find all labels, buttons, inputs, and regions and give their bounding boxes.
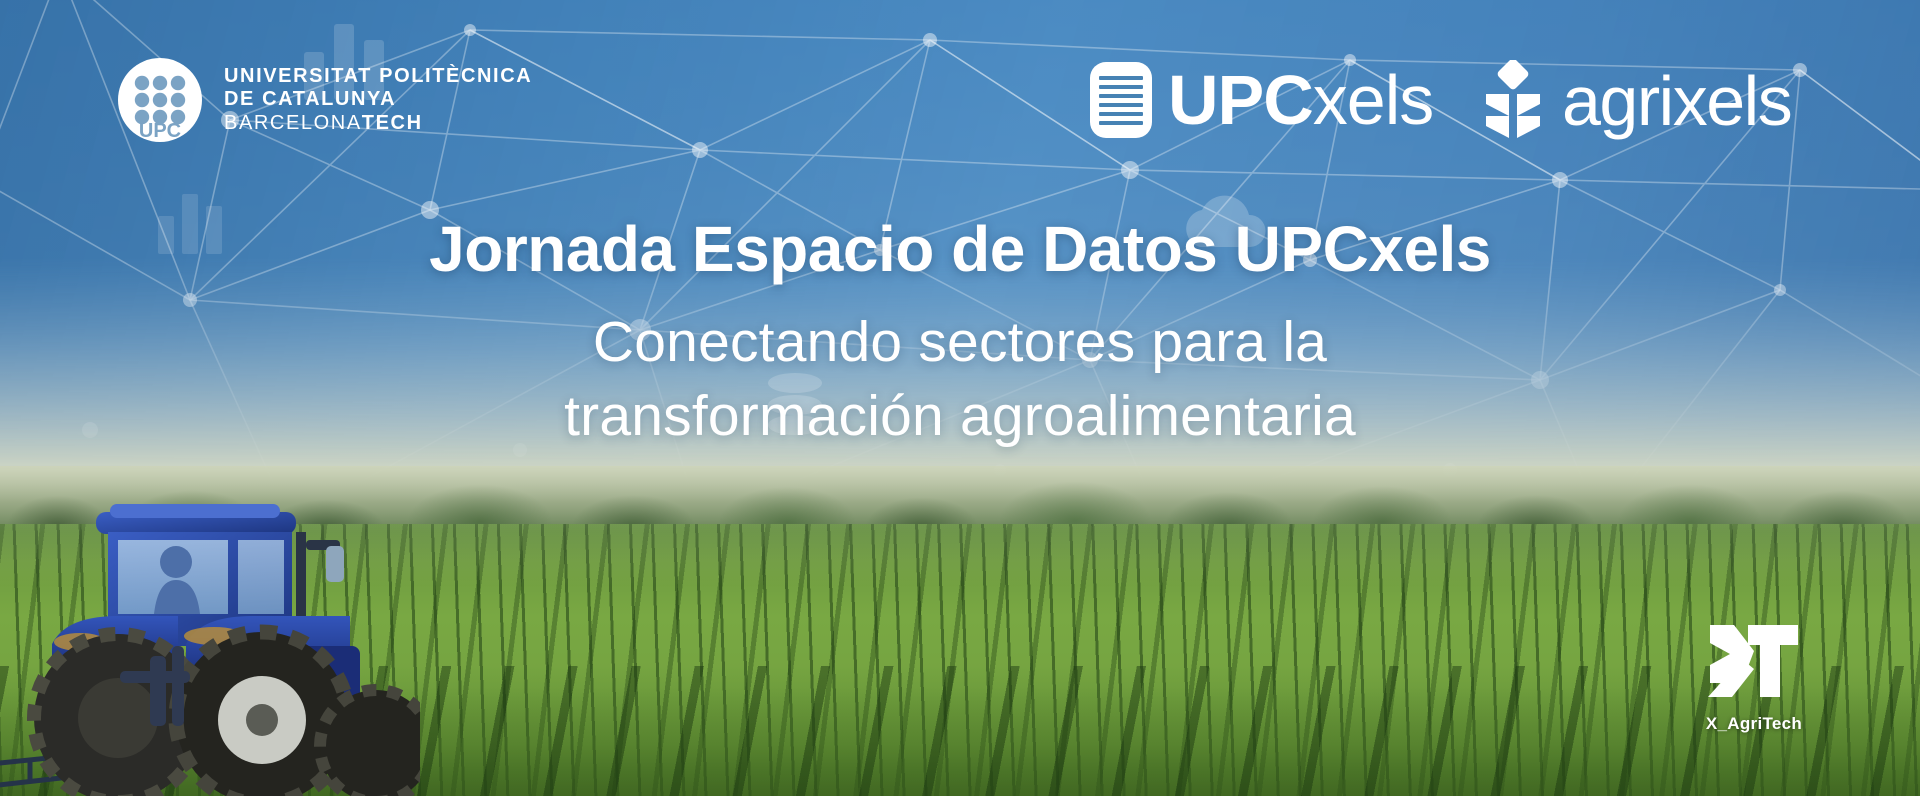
upc-tech-text: TECH — [362, 112, 423, 134]
title-block: Jornada Espacio de Datos UPCxels Conecta… — [0, 216, 1920, 453]
xagritech-label: X_AgriTech — [1684, 714, 1824, 734]
subtitle-line-1: Conectando sectores para la — [0, 305, 1920, 379]
upc-mark-label: UPC — [139, 120, 181, 142]
xagritech-logo: X_AgriTech — [1684, 621, 1824, 734]
agrixels-wordmark: agrixels — [1562, 66, 1791, 136]
xt-monogram-icon — [1708, 621, 1800, 701]
upcxels-upc-text: UPC — [1168, 61, 1313, 139]
upc-line-2: DE CATALUNYA — [224, 88, 532, 111]
subtitle-line-2: transformación agroalimentaria — [0, 379, 1920, 453]
upcxels-xels-text: xels — [1313, 61, 1433, 139]
database-icon — [1090, 62, 1152, 138]
upc-wordmark: UNIVERSITAT POLITÈCNICA DE CATALUNYA BAR… — [224, 65, 532, 135]
upc-line-1: UNIVERSITAT POLITÈCNICA — [224, 65, 532, 88]
event-banner: UPC UNIVERSITAT POLITÈCNICA DE CATALUNYA… — [0, 0, 1920, 796]
page-subtitle: Conectando sectores para la transformaci… — [0, 305, 1920, 453]
agrixels-logo: agrixels — [1482, 60, 1791, 142]
upcxels-wordmark: UPCxels — [1168, 65, 1433, 135]
wheat-sheaf-icon — [1482, 60, 1544, 142]
upcxels-logo: UPCxels — [1090, 62, 1433, 138]
page-title: Jornada Espacio de Datos UPCxels — [0, 216, 1920, 283]
tractor-image — [0, 496, 420, 796]
upc-logo: UPC UNIVERSITAT POLITÈCNICA DE CATALUNYA… — [118, 58, 532, 142]
upc-mark-icon: UPC — [118, 58, 202, 142]
upc-line-3: BARCELONATECH — [224, 112, 532, 135]
upc-barcelona-text: BARCELONA — [224, 112, 362, 134]
